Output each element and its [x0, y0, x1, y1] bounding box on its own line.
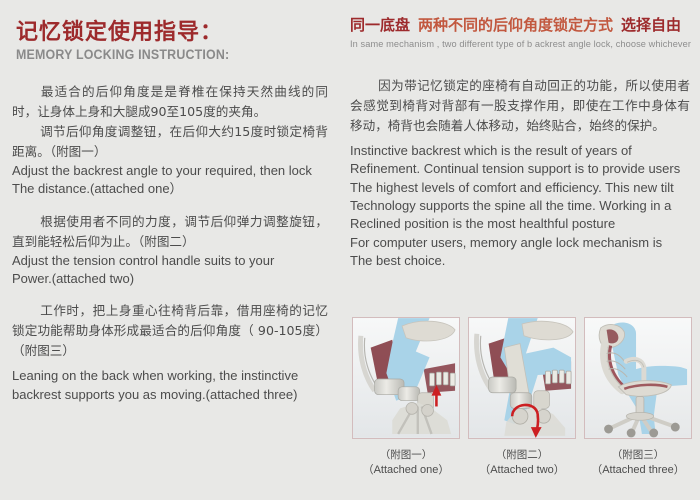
- figure-2-caption-cn: （附图二）: [468, 448, 576, 463]
- spacer: [8, 199, 332, 212]
- chair-side-view-with-person-image: [585, 318, 691, 438]
- paragraph-block-1: 最适合的后仰角度是是脊椎在保持天然曲线的同时，让身体上身和大腿成90至105度的…: [8, 82, 332, 198]
- paragraph-block-2: 根据使用者不同的力度，调节后仰弹力调整旋钮，直到能轻松后仰为止。（附图二） Ad…: [8, 212, 332, 289]
- paragraph-block-3: 工作时，把上身重心往椅背后靠，借用座椅的记忆锁定功能帮助身体形成最适合的后仰角度…: [8, 301, 332, 404]
- right-paragraph-en-line-5: Reclined position is the most healthful …: [350, 215, 690, 233]
- figure-1-frame: [352, 317, 460, 439]
- right-heading-part-1: 同一底盘: [350, 16, 410, 34]
- figure-3-caption-cn: （附图三）: [584, 448, 692, 463]
- figure-3-frame: [584, 317, 692, 439]
- figure-3: （附图三） （Attached three）: [584, 317, 692, 479]
- page-title-en: MEMORY LOCKING INSTRUCTION:: [16, 47, 307, 62]
- instruction-page: 记忆锁定使用指导： MEMORY LOCKING INSTRUCTION: 最适…: [0, 0, 700, 500]
- spacer: [8, 62, 332, 82]
- paragraph-3-en-line-2: backrest supports you as moving.(attache…: [12, 386, 328, 404]
- figure-1-caption: （附图一） （Attached one）: [352, 448, 460, 479]
- right-paragraph-en-line-1: Instinctive backrest which is the result…: [350, 142, 690, 160]
- figure-3-caption-en: （Attached three）: [584, 463, 692, 479]
- paragraph-1-cn-line-1: 最适合的后仰角度是是脊椎在保持天然曲线的同时，让身体上身和大腿成90至105度的…: [12, 82, 328, 122]
- right-paragraph-en-line-4: Technology supports the spine all the ti…: [350, 197, 690, 215]
- figure-2-frame: [468, 317, 576, 439]
- paragraph-3-en-line-1: Leaning on the back when working, the in…: [12, 367, 328, 385]
- figure-strip: （附图一） （Attached one）: [352, 317, 692, 479]
- paragraph-1-cn-text-2: 调节后仰角度调整钮，在后仰大约15度时锁定椅背距离。（附图一）: [12, 124, 328, 159]
- paragraph-3-cn-text-1: 工作时，把上身重心往椅背后靠，借用座椅的记忆锁定功能帮助身体形成最适合的后仰角度…: [12, 303, 328, 358]
- chair-backrest-lock-detail-image: [353, 318, 459, 438]
- right-heading-part-3: 选择自由: [621, 16, 681, 34]
- paragraph-1-en-line-1: Adjust the backrest angle to your requir…: [12, 162, 328, 180]
- right-paragraph-en-line-7: The best choice.: [350, 252, 690, 270]
- figure-1-caption-en: （Attached one）: [352, 463, 460, 479]
- figure-2: （附图二） （Attached two）: [468, 317, 576, 479]
- paragraph-2-en-line-1: Adjust the tension control handle suits …: [12, 252, 328, 270]
- right-heading-part-2: 两种不同的后仰角度锁定方式: [418, 16, 613, 34]
- right-paragraph-en-line-3: The highest levels of comfort and effici…: [350, 179, 690, 197]
- left-column: 记忆锁定使用指导： MEMORY LOCKING INSTRUCTION: 最适…: [0, 0, 340, 500]
- chair-tension-knob-detail-image: [469, 318, 575, 438]
- right-paragraph-cn: 因为带记忆锁定的座椅有自动回正的功能，所以使用者会感觉到椅背对背部有一股支撑作用…: [350, 76, 690, 136]
- paragraph-2-en-line-2: Power.(attached two): [12, 270, 328, 288]
- page-title-cn: 记忆锁定使用指导：: [16, 20, 332, 45]
- paragraph-3-cn-line-1: 工作时，把上身重心往椅背后靠，借用座椅的记忆锁定功能帮助身体形成最适合的后仰角度…: [12, 301, 328, 361]
- right-paragraph-en-line-2: Refinement. Continual tension support is…: [350, 160, 690, 178]
- paragraph-2-cn-text-1: 根据使用者不同的力度，调节后仰弹力调整旋钮，直到能轻松后仰为止。（附图二）: [12, 214, 328, 249]
- right-heading-subtitle: In same mechanism , two different type o…: [350, 39, 684, 50]
- right-paragraph-cn-text: 因为带记忆锁定的座椅有自动回正的功能，所以使用者会感觉到椅背对背部有一股支撑作用…: [350, 78, 690, 133]
- figure-3-caption: （附图三） （Attached three）: [584, 448, 692, 479]
- spacer: [8, 288, 332, 301]
- paragraph-2-cn-line-1: 根据使用者不同的力度，调节后仰弹力调整旋钮，直到能轻松后仰为止。（附图二）: [12, 212, 328, 252]
- figure-1: （附图一） （Attached one）: [352, 317, 460, 479]
- right-heading: 同一底盘两种不同的后仰角度锁定方式选择自由: [350, 16, 694, 34]
- figure-2-caption-en: （Attached two）: [468, 463, 576, 479]
- spacer: [346, 50, 694, 70]
- figure-2-caption: （附图二） （Attached two）: [468, 448, 576, 479]
- right-paragraph-en-line-6: For computer users, memory angle lock me…: [350, 234, 690, 252]
- figure-1-caption-cn: （附图一）: [352, 448, 460, 463]
- paragraph-1-en-line-2: The distance.(attached one）: [12, 180, 328, 198]
- paragraph-1-cn-text-1: 最适合的后仰角度是是脊椎在保持天然曲线的同时，让身体上身和大腿成90至105度的…: [12, 84, 328, 119]
- paragraph-1-cn-line-2: 调节后仰角度调整钮，在后仰大约15度时锁定椅背距离。（附图一）: [12, 122, 328, 162]
- right-paragraph-block: 因为带记忆锁定的座椅有自动回正的功能，所以使用者会感觉到椅背对背部有一股支撑作用…: [346, 76, 694, 271]
